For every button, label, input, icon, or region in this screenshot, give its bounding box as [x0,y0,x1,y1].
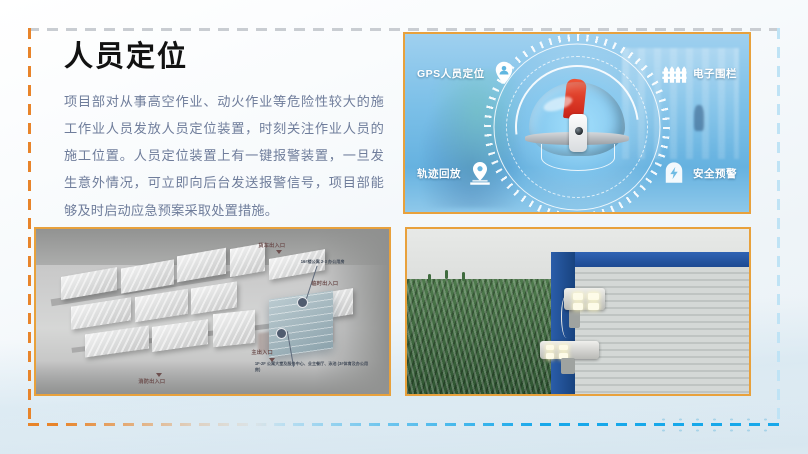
frame-dash-left [28,28,31,426]
hedge-sprig [462,272,465,281]
building-block [213,309,255,346]
route-playback-pin-icon [467,160,493,186]
annotation-node [297,297,308,308]
location-pin-person-icon [491,60,517,86]
aerial-photo: 货车出入口 临时出入口 主出入口 消防出入口 16#楼公寓 2-3 办公用房 1… [36,229,389,394]
distant-person [694,105,704,131]
page-title: 人员定位 [64,42,384,74]
hud-label-fence-text: 电子围栏 [693,66,737,81]
fence-icon [661,60,687,86]
hedge-sprig [445,270,448,279]
hud-label-alert-text: 安全预警 [693,166,737,181]
frame-dash-bottom [28,423,780,426]
camera-cable [561,295,572,338]
annotation-note: 1F-2F 公寓大堂及服务中心、业主餐厅、泳池 (3#体育及办公用房) [255,361,371,373]
camera-photo [407,229,749,394]
annotation-label: 货车出入口 [258,242,285,249]
annotation-caret [276,250,282,254]
camera-led [588,303,598,310]
roller-shutter [575,267,749,394]
helmet-hud-panel: GPS人员定位 [403,32,751,214]
camera-led [588,293,598,300]
text-column: 人员定位 项目部对从事高空作业、动火作业等危险性较大的施工作业人员发放人员定位装… [64,42,384,224]
annotation-node [276,328,287,339]
hud-label-safety-alert: 安全预警 [661,160,737,186]
hud-label-track-text: 轨迹回放 [417,166,461,181]
camera-mount-lower [561,358,575,375]
annotation-caret [156,373,162,377]
hedge-sprig [428,274,431,283]
annotation-note: 16#楼公寓 2-3 办公用房 [301,259,345,265]
annotation-label: 临时出入口 [311,280,338,287]
frame-dash-right [777,28,780,426]
slide-root: 人员定位 项目部对从事高空作业、动火作业等危险性较大的施工作业人员发放人员定位装… [0,0,808,454]
camera-led [573,303,583,310]
camera-led [546,353,555,359]
surveillance-camera-panel [405,227,751,396]
smart-helmet-graphic [525,82,629,174]
aerial-site-plan-panel: 货车出入口 临时出入口 主出入口 消防出入口 16#楼公寓 2-3 办公用房 1… [34,227,391,396]
frame-dash-top [28,28,780,31]
shield-lightning-icon [661,160,687,186]
hud-label-electronic-fence: 电子围栏 [661,60,737,86]
hud-label-gps-text: GPS人员定位 [417,66,485,81]
camera-led [559,345,568,351]
blue-fascia [551,252,749,267]
body-paragraph: 项目部对从事高空作业、动火作业等危险性较大的施工作业人员发放人员定位装置，时刻关… [64,88,384,224]
hud-label-gps-positioning: GPS人员定位 [417,60,517,86]
annotation-label: 主出入口 [251,349,273,356]
decorative-dot-grid [655,414,773,436]
artificial-hedge [407,279,551,395]
hud-label-track-playback: 轨迹回放 [417,160,493,186]
camera-led [546,345,555,351]
helmet-chin-strap [541,144,615,171]
camera-led [573,293,583,300]
annotation-label: 消防出入口 [138,378,165,385]
hud-background: GPS人员定位 [405,34,749,212]
camera-lens-icon [574,126,584,136]
frame-dash-bottom-blue [255,423,780,426]
